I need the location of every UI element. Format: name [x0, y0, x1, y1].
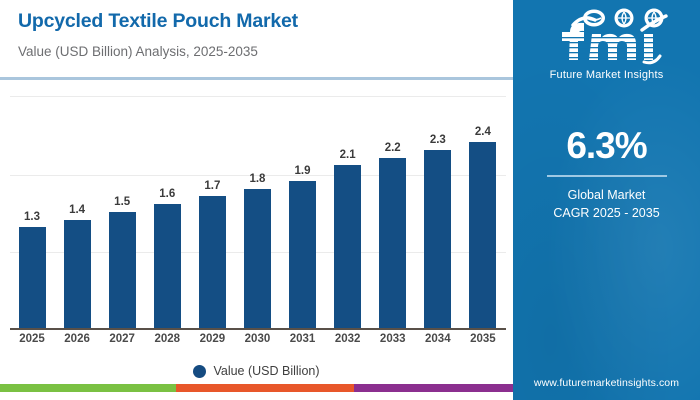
bar-group: 2.3 [416, 88, 460, 328]
bar-group: 1.6 [145, 88, 189, 328]
x-tick-label: 2028 [145, 333, 189, 345]
bar-group: 1.5 [100, 88, 144, 328]
x-axis-tick-labels: 2025202620272028202920302031203220332034… [10, 333, 506, 353]
chart-legend[interactable]: Value (USD Billion) [0, 360, 513, 382]
bottom-color-stripe [0, 384, 513, 392]
stripe-segment-purple [354, 384, 513, 392]
bar-group: 2.2 [371, 88, 415, 328]
bar-group: 1.4 [55, 88, 99, 328]
logo-tagline: Future Market Insights [513, 69, 700, 81]
bar-value-label: 1.3 [10, 211, 54, 223]
website-url[interactable]: www.futuremarketinsights.com [513, 377, 700, 389]
chart-header: Upcycled Textile Pouch Market Value (USD… [0, 0, 513, 79]
chart-pane: Upcycled Textile Pouch Market Value (USD… [0, 0, 513, 392]
bar[interactable] [469, 142, 496, 328]
bar[interactable] [334, 165, 361, 328]
cagr-highlight: 6.3% Global Market CAGR 2025 - 2035 [513, 127, 700, 222]
x-axis-line [10, 328, 506, 330]
bar[interactable] [109, 212, 136, 328]
header-divider [0, 77, 513, 80]
bar-value-label: 1.7 [190, 180, 234, 192]
bar[interactable] [379, 158, 406, 328]
cagr-divider [547, 175, 667, 177]
bar-group: 1.9 [281, 88, 325, 328]
cagr-caption-line-1: Global Market [513, 186, 700, 204]
bar-value-label: 1.6 [145, 188, 189, 200]
bar[interactable] [244, 189, 271, 328]
bar[interactable] [154, 204, 181, 328]
stripe-segment-orange [176, 384, 354, 392]
brand-panel: Future Market Insights 6.3% Global Marke… [513, 0, 700, 400]
bar-group: 1.8 [235, 88, 279, 328]
page-title: Upcycled Textile Pouch Market [18, 10, 298, 33]
fmi-globe-logo-icon [532, 8, 682, 66]
x-tick-label: 2035 [461, 333, 505, 345]
x-tick-label: 2033 [371, 333, 415, 345]
x-tick-label: 2032 [326, 333, 370, 345]
bar-value-label: 1.9 [281, 165, 325, 177]
x-tick-label: 2025 [10, 333, 54, 345]
x-tick-label: 2026 [55, 333, 99, 345]
bar-value-label: 1.5 [100, 196, 144, 208]
page-subtitle: Value (USD Billion) Analysis, 2025-2035 [18, 44, 258, 59]
x-tick-label: 2031 [281, 333, 325, 345]
bar-value-label: 2.4 [461, 126, 505, 138]
bar-value-label: 2.1 [326, 149, 370, 161]
legend-item-label: Value (USD Billion) [213, 364, 319, 378]
bar-value-label: 1.8 [235, 173, 279, 185]
bar-value-label: 2.3 [416, 134, 460, 146]
bar[interactable] [424, 150, 451, 328]
circle-marker-icon [193, 365, 206, 378]
bar[interactable] [19, 227, 46, 328]
x-tick-label: 2029 [190, 333, 234, 345]
bar-group: 1.7 [190, 88, 234, 328]
cagr-caption-line-2: CAGR 2025 - 2035 [513, 204, 700, 222]
bar[interactable] [64, 220, 91, 328]
x-tick-label: 2030 [235, 333, 279, 345]
plot-area: 1.31.41.51.61.71.81.92.12.22.32.4 [10, 88, 506, 330]
fmi-logo[interactable]: Future Market Insights [513, 8, 700, 81]
bar-group: 1.3 [10, 88, 54, 328]
x-tick-label: 2034 [416, 333, 460, 345]
bar-series: 1.31.41.51.61.71.81.92.12.22.32.4 [10, 88, 506, 328]
stripe-segment-green [0, 384, 176, 392]
bar-group: 2.1 [326, 88, 370, 328]
bar-value-label: 1.4 [55, 204, 99, 216]
infographic-chart-card: Upcycled Textile Pouch Market Value (USD… [0, 0, 700, 400]
bar-value-label: 2.2 [371, 142, 415, 154]
bar[interactable] [199, 196, 226, 328]
bar-group: 2.4 [461, 88, 505, 328]
bar[interactable] [289, 181, 316, 328]
cagr-value: 6.3% [513, 127, 700, 164]
x-tick-label: 2027 [100, 333, 144, 345]
